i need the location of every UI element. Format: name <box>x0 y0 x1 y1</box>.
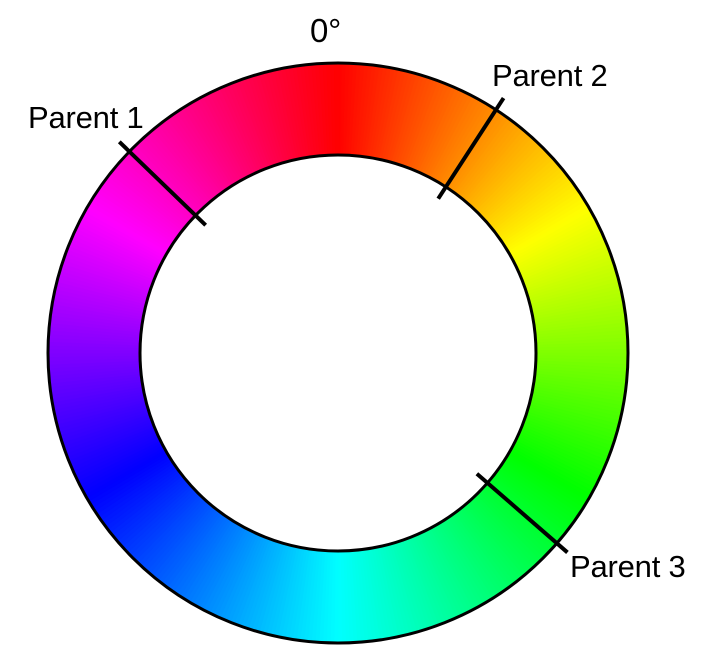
parent-1-label: Parent 1 <box>28 102 144 133</box>
inner-ring-outline <box>140 155 536 551</box>
zero-degree-label: 0° <box>310 14 341 47</box>
hue-wheel-figure: 0° Parent 1 Parent 2 Parent 3 <box>0 0 715 663</box>
parent-2-label: Parent 2 <box>492 60 608 91</box>
parent-3-label: Parent 3 <box>570 551 686 582</box>
hue-ring-segments <box>48 63 628 643</box>
hue-wedge <box>334 63 340 155</box>
